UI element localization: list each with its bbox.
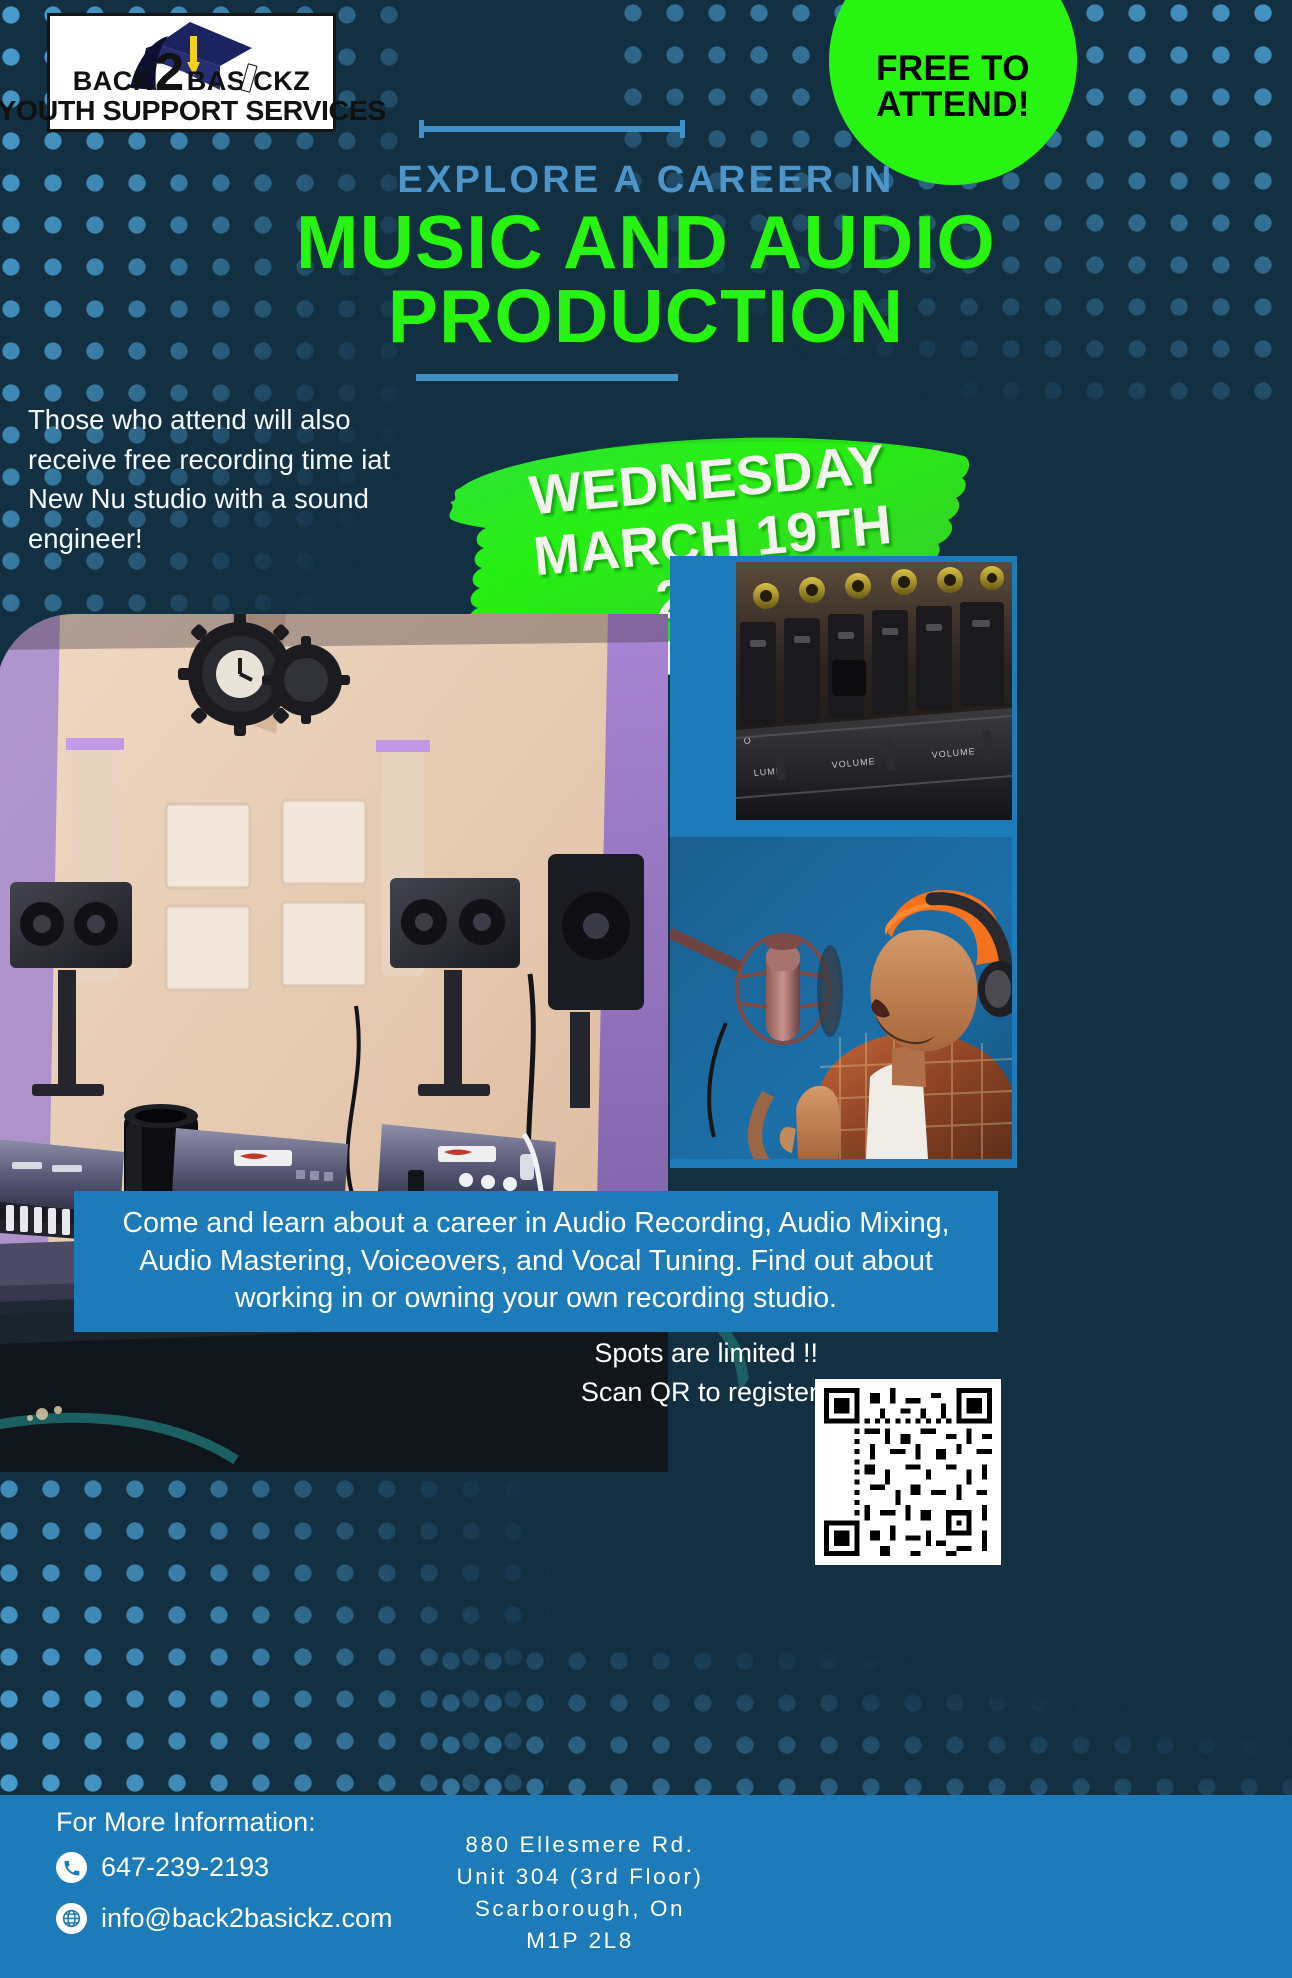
registration-note: Spots are limited !! Scan QR to register [548, 1334, 818, 1412]
address-line-4: M1P 2L8 [380, 1925, 780, 1957]
poster-canvas: BACK 2 BAS I CKZ YOUTH SUPPORT SERVICES … [0, 0, 1292, 1978]
footer-info-label: For More Information: [56, 1807, 393, 1838]
page-kicker: EXPLORE A CAREER IN [0, 159, 1292, 202]
logo-text-ckz: CKZ [253, 68, 310, 95]
footer-contact-block: For More Information: 647-239-2193 [56, 1807, 393, 1954]
footer-phone-row[interactable]: 647-239-2193 [56, 1852, 393, 1883]
logo-text-bas: BAS [187, 68, 246, 95]
footer-email-row[interactable]: info@back2basickz.com [56, 1903, 393, 1934]
address-line-3: Scarborough, On [380, 1893, 780, 1925]
globe-icon [56, 1903, 87, 1934]
footer-address-block: 880 Ellesmere Rd. Unit 304 (3rd Floor) S… [380, 1829, 780, 1957]
course-description-box: Come and learn about a career in Audio R… [74, 1191, 998, 1332]
badge-line-1: FREE TO [876, 51, 1030, 87]
decorative-rule-top [419, 126, 685, 132]
scan-qr-text: Scan QR to register [548, 1373, 818, 1412]
qr-code-image [824, 1388, 992, 1556]
page-title: MUSIC AND AUDIO PRODUCTION [0, 206, 1292, 353]
page-title-line-2: PRODUCTION [0, 280, 1292, 354]
course-description-text: Come and learn about a career in Audio R… [74, 1205, 998, 1319]
page-title-line-1: MUSIC AND AUDIO [296, 200, 996, 284]
logo-wordmark-secondary: YOUTH SUPPORT SERVICES [0, 96, 386, 125]
footer-email-address: info@back2basickz.com [101, 1903, 393, 1934]
free-to-attend-badge: FREE TO ATTEND! [829, 0, 1077, 185]
spots-limited-text: Spots are limited !! [548, 1334, 818, 1373]
address-line-1: 880 Ellesmere Rd. [380, 1829, 780, 1861]
badge-line-2: ATTEND! [876, 87, 1030, 123]
qr-code[interactable] [815, 1379, 1001, 1565]
logo-wordmark-primary: BACK 2 BAS I CKZ [73, 50, 311, 95]
photo-mixing-console: LUME VOLUME VOLUME O [736, 562, 1012, 820]
phone-icon [56, 1852, 87, 1883]
logo-text-back: BACK [73, 68, 153, 95]
organization-logo: BACK 2 BAS I CKZ YOUTH SUPPORT SERVICES [47, 13, 336, 132]
footer-phone-number: 647-239-2193 [101, 1852, 269, 1883]
logo-text-i-diploma: I [245, 68, 253, 95]
decorative-rule-under-title [416, 374, 678, 381]
intro-paragraph: Those who attend will also receive free … [28, 400, 413, 558]
logo-text-two: 2 [155, 50, 185, 95]
footer-bar: For More Information: 647-239-2193 [0, 1795, 1292, 1978]
address-line-2: Unit 304 (3rd Floor) [380, 1861, 780, 1893]
photo-vocalist-recording [670, 837, 1012, 1159]
